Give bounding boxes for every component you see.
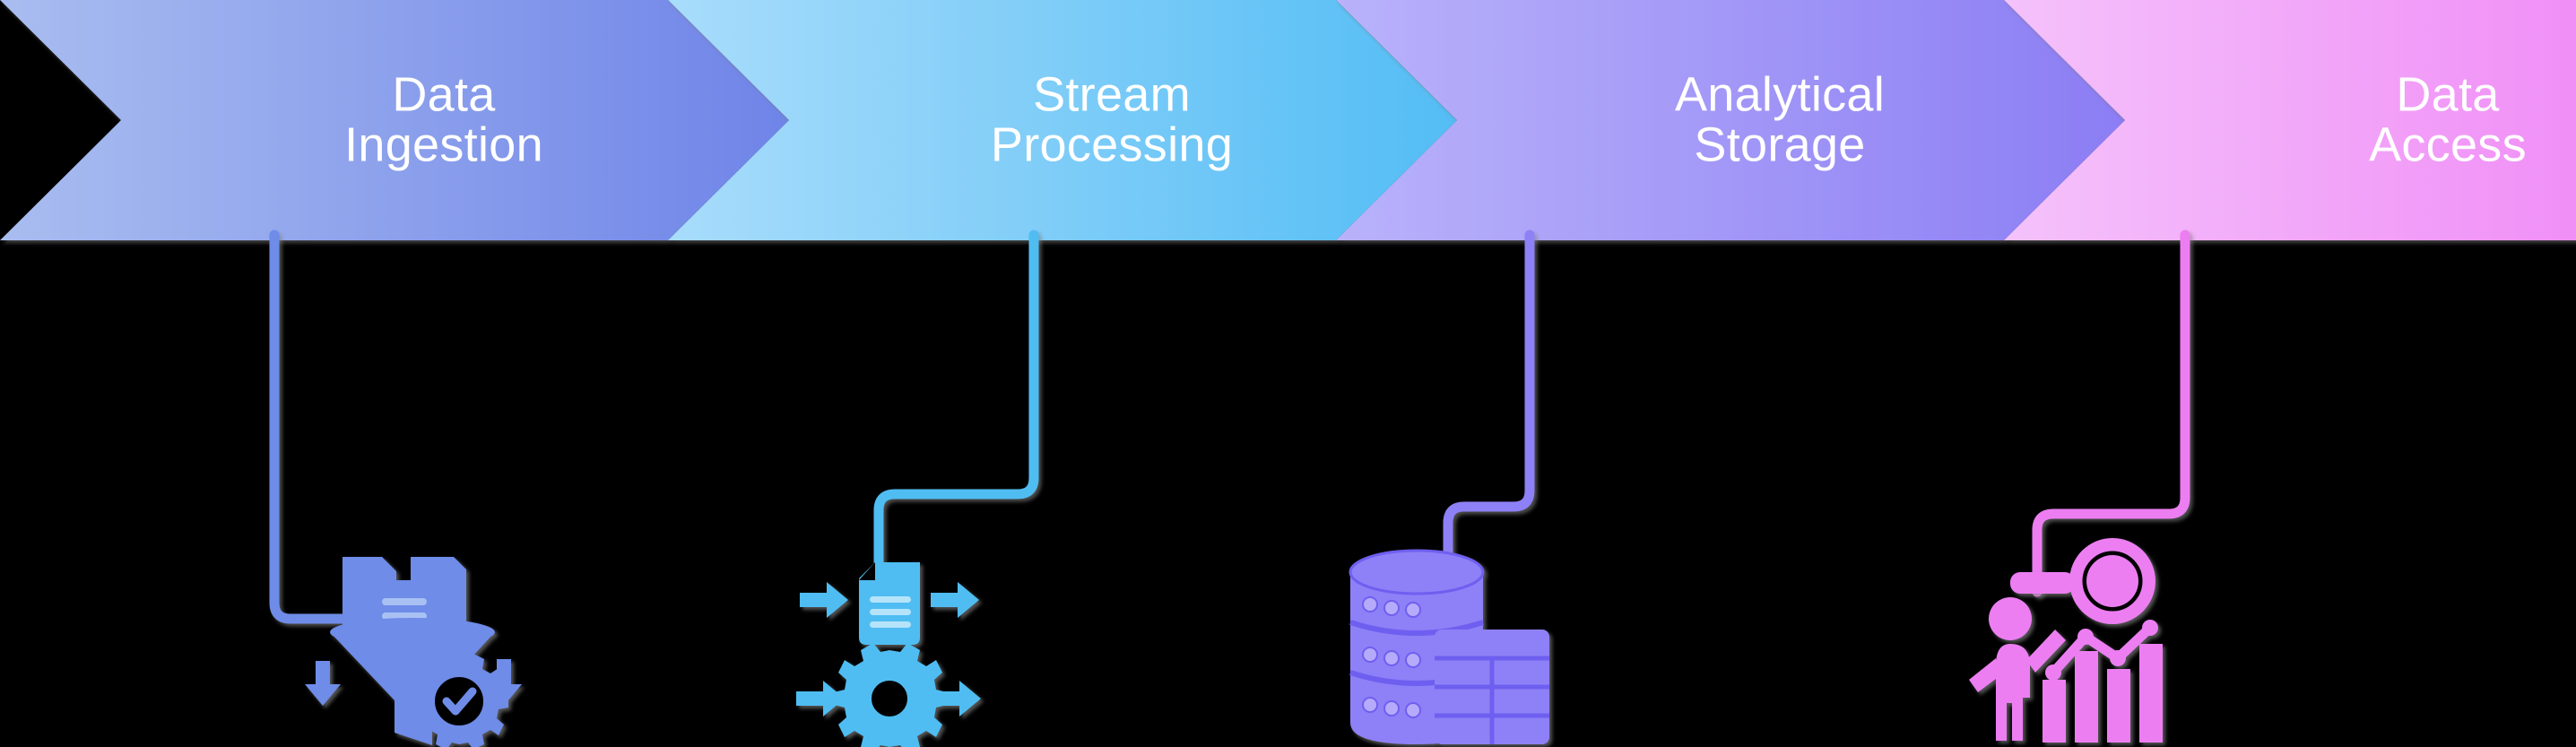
icon-slot-analytical-storage[interactable]	[1345, 547, 1560, 747]
icon-slot-data-access[interactable]	[1955, 509, 2197, 747]
chevron-stage-data-access[interactable]: Data Access	[2004, 0, 2576, 240]
chevron-band: Data Ingestion Stream Processing	[0, 0, 2576, 240]
process-flow-diagram: Data Ingestion Stream Processing	[0, 0, 2576, 747]
icon-slot-data-ingestion[interactable]	[296, 525, 529, 747]
icon-slot-stream-processing[interactable]	[789, 552, 986, 747]
stream-processing-icon	[789, 552, 986, 747]
connector-line-2	[879, 235, 1034, 565]
data-ingestion-funnel-icon	[296, 525, 529, 747]
connector-line-3	[1448, 235, 1530, 560]
chevron-shape-4	[2004, 0, 2576, 240]
data-access-analyst-icon	[1955, 509, 2197, 747]
analytical-storage-database-icon	[1345, 547, 1560, 747]
